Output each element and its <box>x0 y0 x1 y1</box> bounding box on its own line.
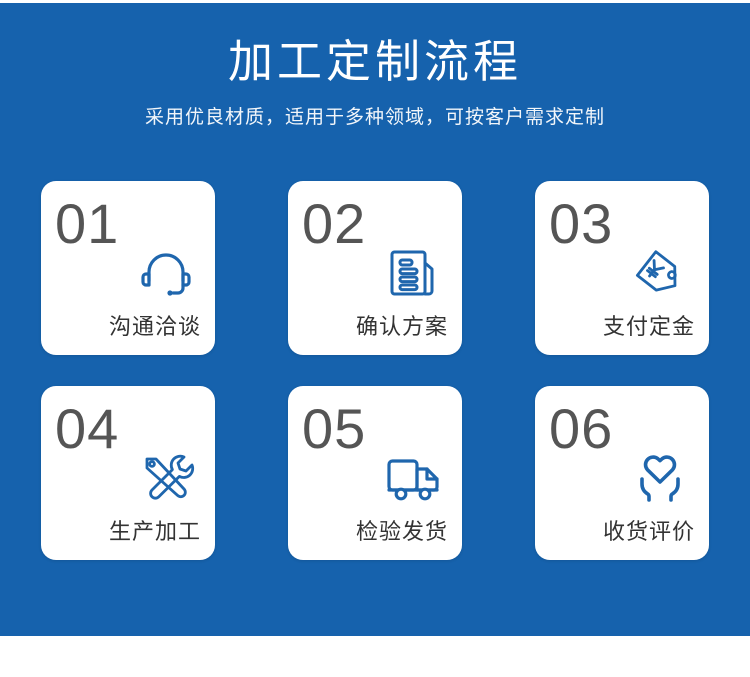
process-step-card[interactable]: 05 检验发货 <box>288 386 462 560</box>
step-number: 06 <box>549 396 613 462</box>
process-step-card[interactable]: 01 沟通洽谈 <box>41 181 215 355</box>
step-number: 01 <box>55 191 119 257</box>
document-plan-icon <box>382 243 444 305</box>
page-title: 加工定制流程 <box>0 36 750 88</box>
step-label: 支付定金 <box>535 313 695 341</box>
hands-heart-icon <box>629 448 691 510</box>
step-number: 04 <box>55 396 119 462</box>
step-label: 沟通洽谈 <box>41 313 201 341</box>
delivery-truck-icon <box>382 448 444 510</box>
process-step-card[interactable]: 02 确认方案 <box>288 181 462 355</box>
process-step-card: 03 支付定金 <box>535 181 709 355</box>
process-step-card[interactable]: 06 收货评价 <box>535 386 709 560</box>
step-label: 生产加工 <box>41 518 201 546</box>
step-label: 检验发货 <box>288 518 448 546</box>
step-number: 05 <box>302 396 366 462</box>
page-subtitle: 采用优良材质，适用于多种领域，可按客户需求定制 <box>0 104 750 131</box>
process-step-card[interactable]: 04 生产加工 <box>41 386 215 560</box>
step-number: 03 <box>549 191 613 257</box>
wrench-screwdriver-icon <box>135 448 197 510</box>
headset-icon <box>135 243 197 305</box>
step-label: 确认方案 <box>288 313 448 341</box>
step-number: 02 <box>302 191 366 257</box>
step-label: 收货评价 <box>535 518 695 546</box>
price-tag-yuan-icon <box>629 243 691 305</box>
process-steps-grid: 01 沟通洽谈 02 <box>41 181 709 560</box>
process-flow-page: 加工定制流程 采用优良材质，适用于多种领域，可按客户需求定制 01 沟通洽谈 0… <box>0 0 750 677</box>
